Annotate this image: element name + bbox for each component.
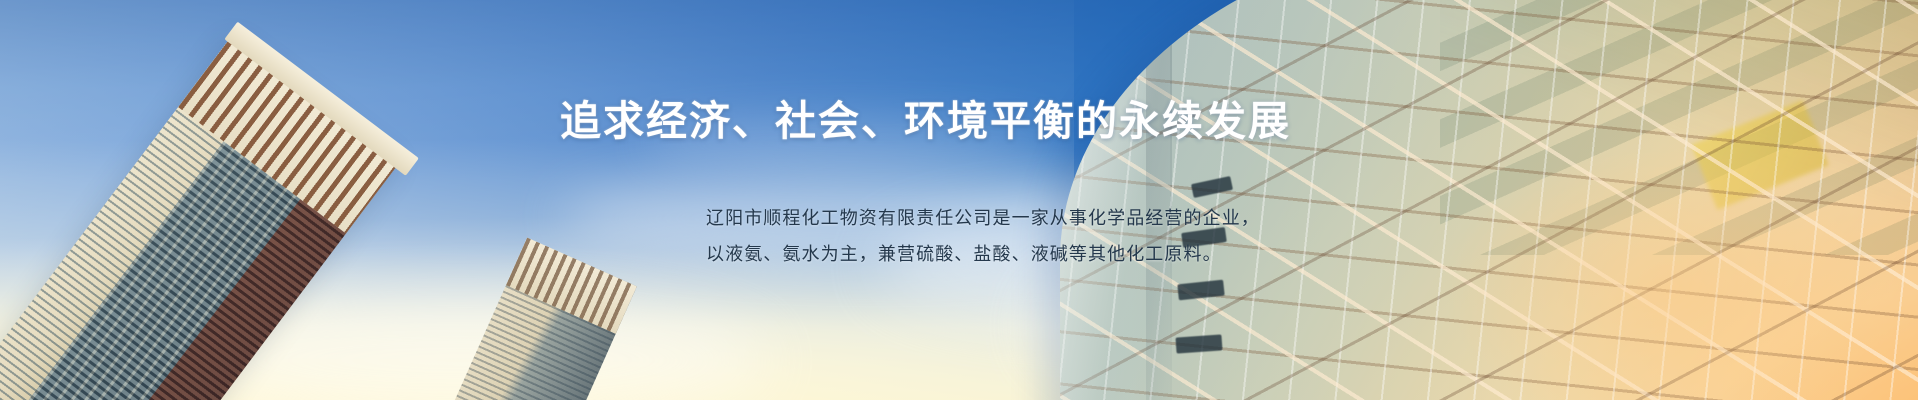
- hero-banner: 追求经济、社会、环境平衡的永续发展 辽阳市顺程化工物资有限责任公司是一家从事化学…: [0, 0, 1918, 400]
- rim-window-slot: [1175, 334, 1222, 353]
- banner-headline: 追求经济、社会、环境平衡的永续发展: [560, 96, 1520, 146]
- banner-description-line-1: 辽阳市顺程化工物资有限责任公司是一家从事化学品经营的企业，: [560, 200, 1520, 236]
- banner-copy-block: 追求经济、社会、环境平衡的永续发展 辽阳市顺程化工物资有限责任公司是一家从事化学…: [560, 96, 1520, 272]
- banner-description-line-2: 以液氨、氨水为主，兼营硫酸、盐酸、液碱等其他化工原料。: [560, 236, 1520, 272]
- banner-description: 辽阳市顺程化工物资有限责任公司是一家从事化学品经营的企业， 以液氨、氨水为主，兼…: [560, 200, 1520, 272]
